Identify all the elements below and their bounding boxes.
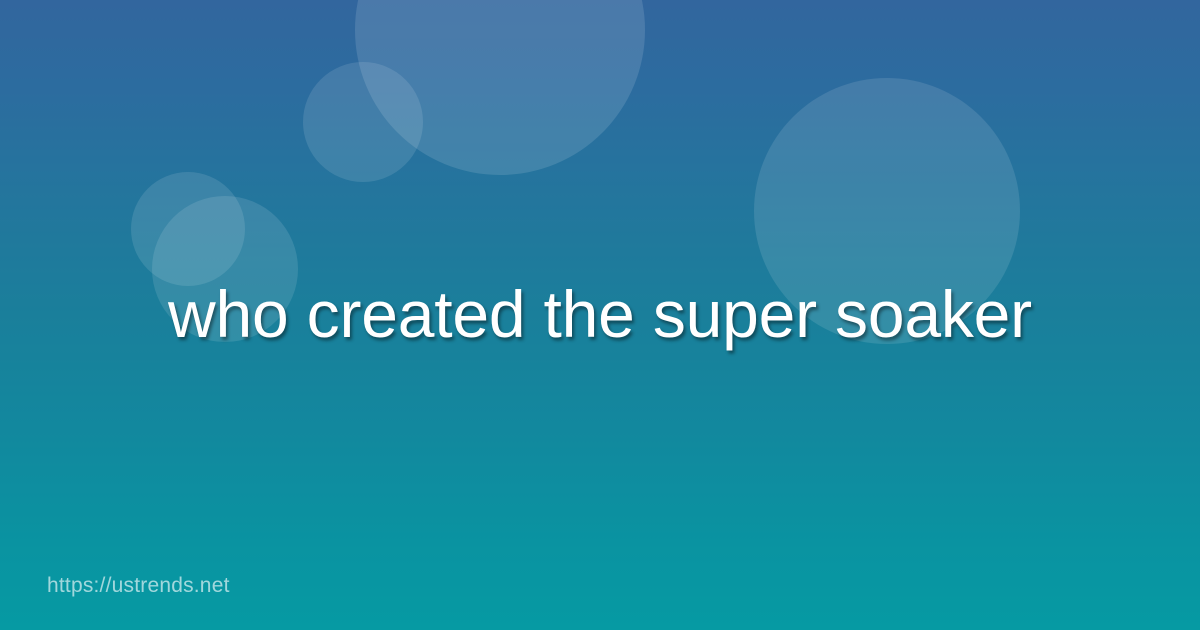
open-graph-card: who created the super soaker https://ust… — [0, 0, 1200, 630]
page-title: who created the super soaker — [168, 278, 1032, 352]
headline-container: who created the super soaker — [0, 0, 1200, 630]
site-url-label: https://ustrends.net — [47, 575, 230, 596]
